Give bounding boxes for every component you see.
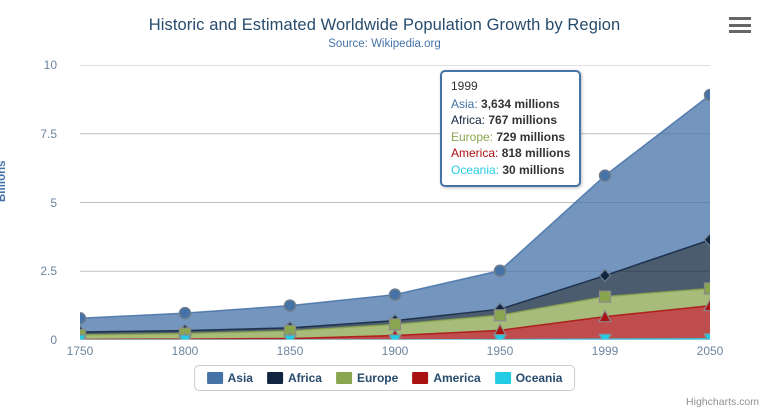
x-axis-tick-1900: 1900: [360, 344, 430, 358]
tooltip: 1999 Asia: 3,634 millionsAfrica: 767 mil…: [440, 70, 581, 187]
tooltip-series-name: Africa:: [451, 113, 488, 127]
tooltip-series-value: 30 millions: [502, 163, 564, 177]
marker-europe-1999[interactable]: [600, 291, 611, 302]
marker-asia-1850[interactable]: [285, 300, 296, 311]
x-axis-tick-1750: 1750: [45, 344, 115, 358]
legend-label: Oceania: [516, 371, 563, 385]
tooltip-header: 1999: [451, 78, 570, 96]
x-axis-tick-2050: 2050: [675, 344, 745, 358]
tooltip-series-name: Europe:: [451, 130, 496, 144]
x-axis-tick-1850: 1850: [255, 344, 325, 358]
legend-item-america[interactable]: America: [412, 371, 480, 385]
series-areas: [80, 95, 710, 340]
highcharts-container: Historic and Estimated Worldwide Populat…: [0, 0, 769, 416]
legend-swatch-america: [412, 372, 428, 384]
menu-bar-1: [729, 17, 751, 20]
legend-swatch-oceania: [495, 372, 511, 384]
legend-swatch-africa: [267, 372, 283, 384]
legend[interactable]: AsiaAfricaEuropeAmericaOceania: [194, 365, 576, 391]
tooltip-row-america: America: 818 millions: [451, 145, 570, 162]
tooltip-row-europe: Europe: 729 millions: [451, 129, 570, 146]
legend-swatch-europe: [336, 372, 352, 384]
y-axis-tick-2: 5: [0, 196, 57, 210]
tooltip-row-africa: Africa: 767 millions: [451, 112, 570, 129]
x-axis-tick-1800: 1800: [150, 344, 220, 358]
hamburger-menu-icon[interactable]: [729, 15, 753, 35]
marker-europe-1900[interactable]: [390, 319, 401, 330]
menu-bar-3: [729, 30, 751, 33]
tooltip-series-name: America:: [451, 146, 502, 160]
chart-svg: [80, 65, 710, 340]
tooltip-series-value: 767 millions: [488, 113, 557, 127]
marker-asia-1900[interactable]: [390, 289, 401, 300]
marker-oceania-1850[interactable]: [284, 335, 296, 340]
marker-asia-1999[interactable]: [600, 170, 611, 181]
legend-label: America: [433, 371, 480, 385]
marker-asia-1800[interactable]: [180, 308, 191, 319]
legend-swatch-asia: [207, 372, 223, 384]
legend-label: Europe: [357, 371, 398, 385]
legend-item-asia[interactable]: Asia: [207, 371, 253, 385]
marker-asia-1750[interactable]: [80, 313, 86, 324]
legend-items: AsiaAfricaEuropeAmericaOceania: [207, 371, 563, 385]
plot-area: [80, 65, 710, 340]
tooltip-series-value: 729 millions: [496, 130, 565, 144]
tooltip-row-asia: Asia: 3,634 millions: [451, 96, 570, 113]
legend-item-africa[interactable]: Africa: [267, 371, 322, 385]
tooltip-series-name: Asia:: [451, 97, 481, 111]
tooltip-series-value: 3,634 millions: [481, 97, 560, 111]
chart-title: Historic and Estimated Worldwide Populat…: [0, 16, 769, 35]
x-axis-tick-1950: 1950: [465, 344, 535, 358]
legend-label: Asia: [228, 371, 253, 385]
marker-europe-1950[interactable]: [495, 310, 506, 321]
y-axis-tick-4: 10: [0, 58, 57, 72]
tooltip-series-value: 818 millions: [502, 146, 571, 160]
marker-europe-2050[interactable]: [705, 283, 711, 294]
legend-item-europe[interactable]: Europe: [336, 371, 398, 385]
tooltip-rows: Asia: 3,634 millionsAfrica: 767 millions…: [451, 96, 570, 179]
x-axis-tick-1999: 1999: [570, 344, 640, 358]
marker-oceania-1900[interactable]: [389, 335, 401, 340]
menu-bar-2: [729, 24, 751, 27]
marker-oceania-1800[interactable]: [179, 335, 191, 340]
legend-item-oceania[interactable]: Oceania: [495, 371, 563, 385]
tooltip-series-name: Oceania:: [451, 163, 502, 177]
marker-asia-1950[interactable]: [495, 265, 506, 276]
y-axis-tick-1: 2.5: [0, 264, 57, 278]
legend-label: Africa: [288, 371, 322, 385]
marker-asia-2050[interactable]: [705, 90, 711, 101]
y-axis-tick-3: 7.5: [0, 127, 57, 141]
credits-link[interactable]: Highcharts.com: [686, 396, 759, 408]
tooltip-row-oceania: Oceania: 30 millions: [451, 162, 570, 179]
chart-subtitle: Source: Wikipedia.org: [0, 38, 769, 50]
